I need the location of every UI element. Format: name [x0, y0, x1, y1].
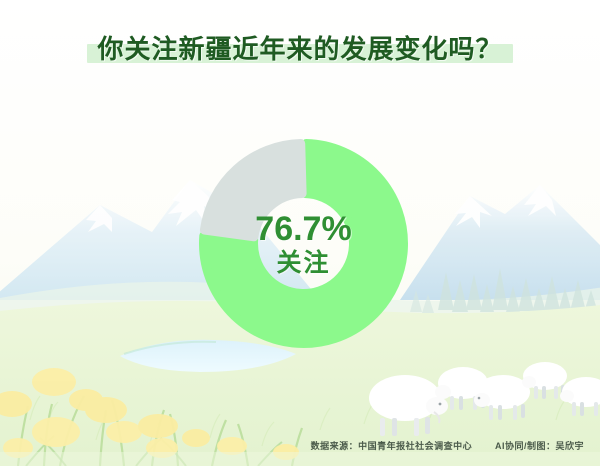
- page-title: 你关注新疆近年来的发展变化吗？: [0, 32, 600, 66]
- footer: 数据来源：中国青年报社社会调查中心 AI协同/制图：吴欣宇: [0, 436, 584, 454]
- donut-chart: 76.7% 关注: [175, 115, 432, 372]
- donut-center-labels: 76.7% 关注: [175, 115, 432, 372]
- pine-trees: [438, 268, 598, 312]
- sheep-group: [369, 362, 600, 436]
- sheep: [560, 377, 600, 416]
- donut-label: 关注: [276, 248, 330, 278]
- sheep: [369, 375, 448, 436]
- footer-source: 数据来源：中国青年报社社会调查中心: [311, 439, 473, 452]
- title-text: 你关注新疆近年来的发展变化吗？: [97, 32, 502, 66]
- infographic-page: 你关注新疆近年来的发展变化吗？ 76.7% 关注 数据来源：中国青年报社社会调查…: [0, 0, 600, 466]
- sheep: [435, 367, 488, 410]
- donut-value: 76.7%: [255, 210, 351, 248]
- footer-credit: AI协同/制图：吴欣宇: [495, 439, 584, 452]
- sheep: [474, 375, 530, 420]
- sheep: [522, 362, 567, 399]
